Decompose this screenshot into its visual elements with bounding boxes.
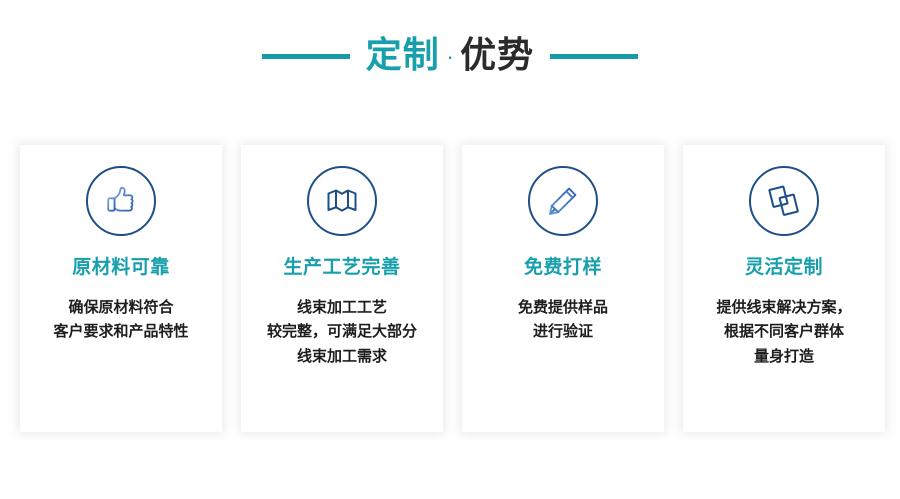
feature-card-title: 免费打样	[524, 258, 602, 277]
feature-card[interactable]: 生产工艺完善 线束加工工艺 较完整，可满足大部分 线束加工需求	[241, 145, 443, 432]
section-header: 定制 · 优势	[0, 28, 900, 84]
feature-card-body-line: 免费提供样品	[468, 295, 658, 319]
page-title-sub: 优势	[460, 38, 534, 74]
thumbs-up-icon	[86, 166, 156, 236]
feature-card-title: 原材料可靠	[72, 258, 170, 277]
feature-card[interactable]: 灵活定制 提供线束解决方案， 根据不同客户群体 量身打造	[683, 145, 885, 432]
feature-card-title: 生产工艺完善	[283, 258, 400, 277]
feature-card-body: 线束加工工艺 较完整，可满足大部分 线束加工需求	[247, 295, 437, 368]
feature-card-body: 确保原材料符合 客户要求和产品特性	[26, 295, 216, 344]
left-rule-decoration	[262, 54, 350, 59]
page-title: 定制 · 优势	[366, 38, 534, 74]
layers-copy-icon	[749, 166, 819, 236]
feature-card-body-line: 较完整，可满足大部分	[247, 319, 437, 343]
feature-card-body-line: 确保原材料符合	[26, 295, 216, 319]
feature-card-body-line: 提供线束解决方案，	[689, 295, 879, 319]
feature-card-body-line: 根据不同客户群体	[689, 319, 879, 343]
feature-card-body-line: 线束加工需求	[247, 344, 437, 368]
feature-card-body-line: 进行验证	[468, 319, 658, 343]
feature-section: 定制 · 优势 原材料可靠	[0, 0, 900, 499]
feature-card[interactable]: 免费打样 免费提供样品 进行验证	[462, 145, 664, 432]
feature-card-body-line: 线束加工工艺	[247, 295, 437, 319]
folded-map-icon	[307, 166, 377, 236]
feature-card-body-line: 量身打造	[689, 344, 879, 368]
pencil-icon	[528, 166, 598, 236]
feature-card-body: 提供线束解决方案， 根据不同客户群体 量身打造	[689, 295, 879, 368]
right-rule-decoration	[550, 54, 638, 59]
feature-card-body-line: 客户要求和产品特性	[26, 319, 216, 343]
page-title-separator: ·	[447, 48, 453, 68]
feature-card-title: 灵活定制	[745, 258, 823, 277]
feature-card-row: 原材料可靠 确保原材料符合 客户要求和产品特性 生产工艺完善 线束加工工艺 较完…	[20, 145, 885, 432]
feature-card[interactable]: 原材料可靠 确保原材料符合 客户要求和产品特性	[20, 145, 222, 432]
feature-card-body: 免费提供样品 进行验证	[468, 295, 658, 344]
page-title-main: 定制	[366, 38, 440, 74]
